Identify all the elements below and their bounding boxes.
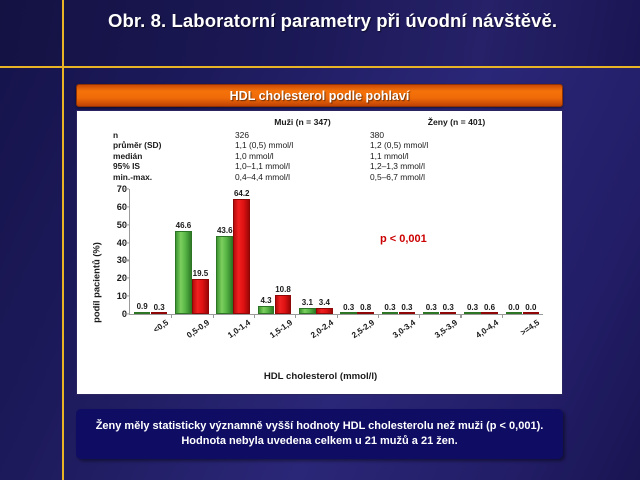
bar-men xyxy=(258,306,275,314)
chart-header-bar: HDL cholesterol podle pohlaví xyxy=(76,84,563,107)
column-header-men: Muži (n = 347) xyxy=(235,117,370,130)
bar-value-label: 46.6 xyxy=(171,221,196,230)
bar-value-label: 10.8 xyxy=(271,285,296,294)
table-cell-women: 0,5–6,7 mmol/l xyxy=(370,172,543,183)
x-tick-label: 1,5-1,9 xyxy=(268,318,294,340)
y-tick-mark xyxy=(124,224,129,225)
bar-group: 46.619.5 xyxy=(171,189,212,314)
page-title: Obr. 8. Laboratorní parametry při úvodní… xyxy=(108,8,608,33)
table-cell-women: 380 xyxy=(370,130,543,141)
bar-value-label: 0.0 xyxy=(519,303,544,312)
x-tick-mark xyxy=(502,314,503,318)
slide: Obr. 8. Laboratorní parametry při úvodní… xyxy=(0,0,640,480)
bar-men xyxy=(216,236,233,314)
x-tick-label: 2,5-2,9 xyxy=(350,318,376,340)
table-cell-women: 1,2 (0,5) mmol/l xyxy=(370,140,543,151)
y-tick-mark xyxy=(124,278,129,279)
x-tick-mark xyxy=(378,314,379,318)
bar-men xyxy=(299,308,316,314)
table-cell-women: 1,2–1,3 mmol/l xyxy=(370,161,543,172)
bar-series-container: 0.90.346.619.543.664.24.310.83.13.40.30.… xyxy=(130,189,543,314)
bar-value-label: 0.8 xyxy=(353,303,378,312)
table-cell-label: min.-max. xyxy=(113,172,235,183)
bar-group: 4.310.8 xyxy=(254,189,295,314)
x-axis-tick-labels: <0,50,5-0,91,0-1,41,5-1,92,0-2,42,5-2,93… xyxy=(130,318,543,364)
bar-group: 0.30.6 xyxy=(460,189,501,314)
gold-vertical-rule xyxy=(62,0,64,480)
x-tick-label: 3,5-3,9 xyxy=(433,318,459,340)
column-header-label xyxy=(113,117,235,130)
x-tick-label: <0,5 xyxy=(151,318,169,335)
x-tick-label: 0,5-0,9 xyxy=(185,318,211,340)
bar-women xyxy=(357,312,374,314)
x-tick-mark xyxy=(213,314,214,318)
table-cell-men: 1,1 (0,5) mmol/l xyxy=(235,140,370,151)
bar-group: 0.30.8 xyxy=(337,189,378,314)
chart-body: Muži (n = 347) Ženy (n = 401) n326380prů… xyxy=(76,110,563,395)
plot-area: podíl pacientů (%) 010203040506070 0.90.… xyxy=(77,189,564,396)
bar-men xyxy=(506,312,523,314)
bar-group: 3.13.4 xyxy=(295,189,336,314)
x-tick-mark xyxy=(337,314,338,318)
x-tick-mark xyxy=(419,314,420,318)
chart-title: HDL cholesterol podle pohlaví xyxy=(230,89,410,103)
bar-group: 0.00.0 xyxy=(502,189,543,314)
y-tick-mark xyxy=(124,296,129,297)
y-tick-mark xyxy=(124,313,129,314)
bar-value-label: 19.5 xyxy=(188,269,213,278)
table-row: n326380 xyxy=(113,130,543,141)
bar-value-label: 0.3 xyxy=(395,303,420,312)
x-tick-label: 4,0-4,4 xyxy=(474,318,500,340)
y-axis-title: podíl pacientů (%) xyxy=(91,218,102,348)
table-row: min.-max.0,4–4,4 mmol/l0,5–6,7 mmol/l xyxy=(113,172,543,183)
statistics-table: Muži (n = 347) Ženy (n = 401) n326380prů… xyxy=(113,117,543,183)
bar-women xyxy=(440,312,457,314)
table-row: 95% IS1,0–1,1 mmol/l1,2–1,3 mmol/l xyxy=(113,161,543,172)
table-cell-label: n xyxy=(113,130,235,141)
bar-value-label: 0.3 xyxy=(436,303,461,312)
bar-men xyxy=(340,312,357,314)
bar-value-label: 0.3 xyxy=(147,303,172,312)
bar-group: 0.30.3 xyxy=(419,189,460,314)
bar-value-label: 3.4 xyxy=(312,298,337,307)
table-cell-label: 95% IS xyxy=(113,161,235,172)
x-tick-mark xyxy=(254,314,255,318)
table-row: medián1,0 mmol/l1,1 mmol/l xyxy=(113,151,543,162)
bar-women xyxy=(523,312,540,314)
bar-group: 0.90.3 xyxy=(130,189,171,314)
bar-women xyxy=(151,312,168,314)
table-cell-men: 326 xyxy=(235,130,370,141)
y-tick-mark xyxy=(124,260,129,261)
bar-women xyxy=(192,279,209,314)
x-tick-label: 3,0-3,4 xyxy=(392,318,418,340)
bar-men xyxy=(134,312,151,314)
table-cell-men: 1,0 mmol/l xyxy=(235,151,370,162)
bar-group: 0.30.3 xyxy=(378,189,419,314)
y-tick-mark xyxy=(124,206,129,207)
column-header-women: Ženy (n = 401) xyxy=(370,117,543,130)
table-cell-label: průměr (SD) xyxy=(113,140,235,151)
chart-card: HDL cholesterol podle pohlaví Muži (n = … xyxy=(76,84,563,395)
bar-value-label: 0.6 xyxy=(477,303,502,312)
x-tick-mark xyxy=(295,314,296,318)
bar-group: 43.664.2 xyxy=(213,189,254,314)
table-cell-women: 1,1 mmol/l xyxy=(370,151,543,162)
bar-women xyxy=(399,312,416,314)
x-tick-label: 2,0-2,4 xyxy=(309,318,335,340)
pvalue-annotation: p < 0,001 xyxy=(380,233,427,245)
footer-note-box: Ženy měly statisticky významně vyšší hod… xyxy=(76,409,563,459)
x-axis-title: HDL cholesterol (mmol/l) xyxy=(77,371,564,382)
footer-line-2: Hodnota nebyla uvedena celkem u 21 mužů … xyxy=(173,434,465,449)
bar-value-label: 64.2 xyxy=(229,189,254,198)
table-cell-men: 0,4–4,4 mmol/l xyxy=(235,172,370,183)
bar-men xyxy=(382,312,399,314)
x-tick-label: >=4,5 xyxy=(519,318,541,337)
y-tick-mark xyxy=(124,242,129,243)
bar-women xyxy=(316,308,333,314)
table-cell-men: 1,0–1,1 mmol/l xyxy=(235,161,370,172)
y-tick-mark xyxy=(124,188,129,189)
table-row: průměr (SD)1,1 (0,5) mmol/l1,2 (0,5) mmo… xyxy=(113,140,543,151)
x-tick-mark xyxy=(460,314,461,318)
bar-women xyxy=(275,295,292,314)
table-header-row: Muži (n = 347) Ženy (n = 401) xyxy=(113,117,543,130)
table-cell-label: medián xyxy=(113,151,235,162)
x-tick-label: 1,0-1,4 xyxy=(226,318,252,340)
footer-line-1: Ženy měly statisticky významně vyšší hod… xyxy=(88,419,552,434)
bar-men xyxy=(464,312,481,314)
bar-women xyxy=(481,312,498,314)
bar-men xyxy=(423,312,440,314)
bar-women xyxy=(233,199,250,314)
gold-horizontal-rule xyxy=(0,66,640,68)
x-tick-mark xyxy=(171,314,172,318)
